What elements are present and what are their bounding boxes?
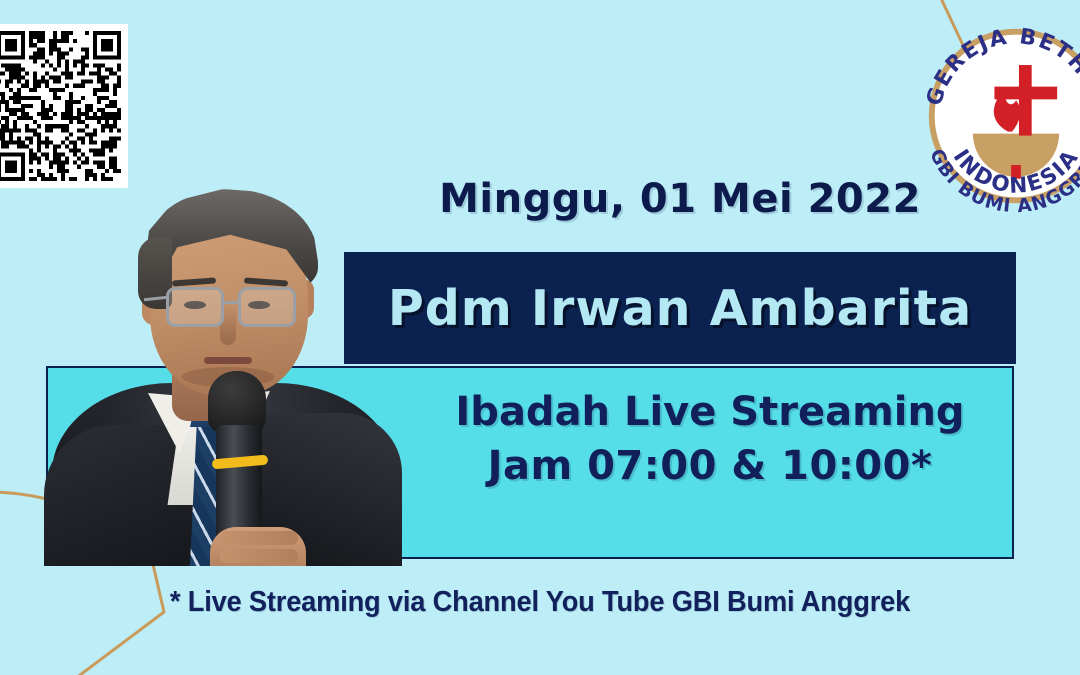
speaker-photo <box>44 175 404 566</box>
logo-cross-vertical <box>1019 65 1032 136</box>
logo-cross-horizontal <box>994 87 1057 100</box>
service-info-line2: Jam 07:00 & 10:00* <box>404 440 1016 494</box>
speaker-name-banner: Pdm Irwan Ambarita <box>344 252 1016 364</box>
service-date: Minggu, 01 Mei 2022 <box>344 176 1016 222</box>
microphone-head-icon <box>208 371 266 433</box>
eyeglasses-bridge <box>224 301 240 304</box>
qr-code[interactable] <box>0 24 128 188</box>
footnote-text: * Live Streaming via Channel You Tube GB… <box>32 586 1047 619</box>
eyeglasses-lens-left <box>166 287 224 327</box>
service-info-text: Ibadah Live Streaming Jam 07:00 & 10:00* <box>404 386 1016 493</box>
mouth-shape <box>204 357 252 364</box>
gbi-church-logo: GEREJA BETHEL INDONESIA GBI BUMI ANGGREK <box>918 18 1080 214</box>
service-info-line1: Ibadah Live Streaming <box>404 386 1016 440</box>
qr-code-icon <box>0 27 125 185</box>
finger-2 <box>220 549 298 563</box>
finger-1 <box>220 531 298 545</box>
eyeglasses-lens-right <box>238 287 296 327</box>
poster-canvas: Minggu, 01 Mei 2022 Pdm Irwan Ambarita I… <box>0 0 1080 675</box>
speaker-name: Pdm Irwan Ambarita <box>344 252 1016 364</box>
